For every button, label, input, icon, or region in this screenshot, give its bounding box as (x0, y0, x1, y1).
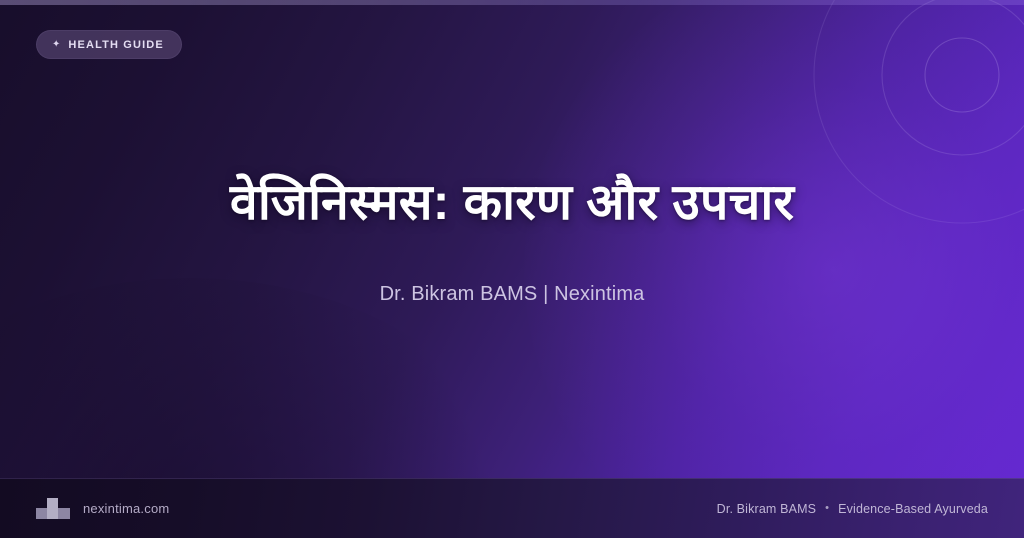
title-block: वेजिनिस्मस: कारण और उपचार Dr. Bikram BAM… (0, 0, 1024, 478)
slide-canvas: ✦ HEALTH GUIDE वेजिनिस्मस: कारण और उपचार… (0, 0, 1024, 538)
footer-separator-dot: • (825, 502, 829, 514)
footer-bar: nexintima.com Dr. Bikram BAMS • Evidence… (0, 478, 1024, 538)
footer-tagline-label: Evidence-Based Ayurveda (838, 502, 988, 516)
footer-website-label: nexintima.com (83, 501, 169, 516)
nexintima-logo-icon (36, 498, 70, 520)
page-subtitle: Dr. Bikram BAMS | Nexintima (380, 283, 645, 306)
footer-author-label: Dr. Bikram BAMS (717, 502, 817, 516)
footer-credits: Dr. Bikram BAMS • Evidence-Based Ayurved… (717, 502, 988, 516)
page-title: वेजिनिस्मस: कारण और उपचार (230, 173, 794, 231)
footer-brand[interactable]: nexintima.com (36, 498, 169, 520)
